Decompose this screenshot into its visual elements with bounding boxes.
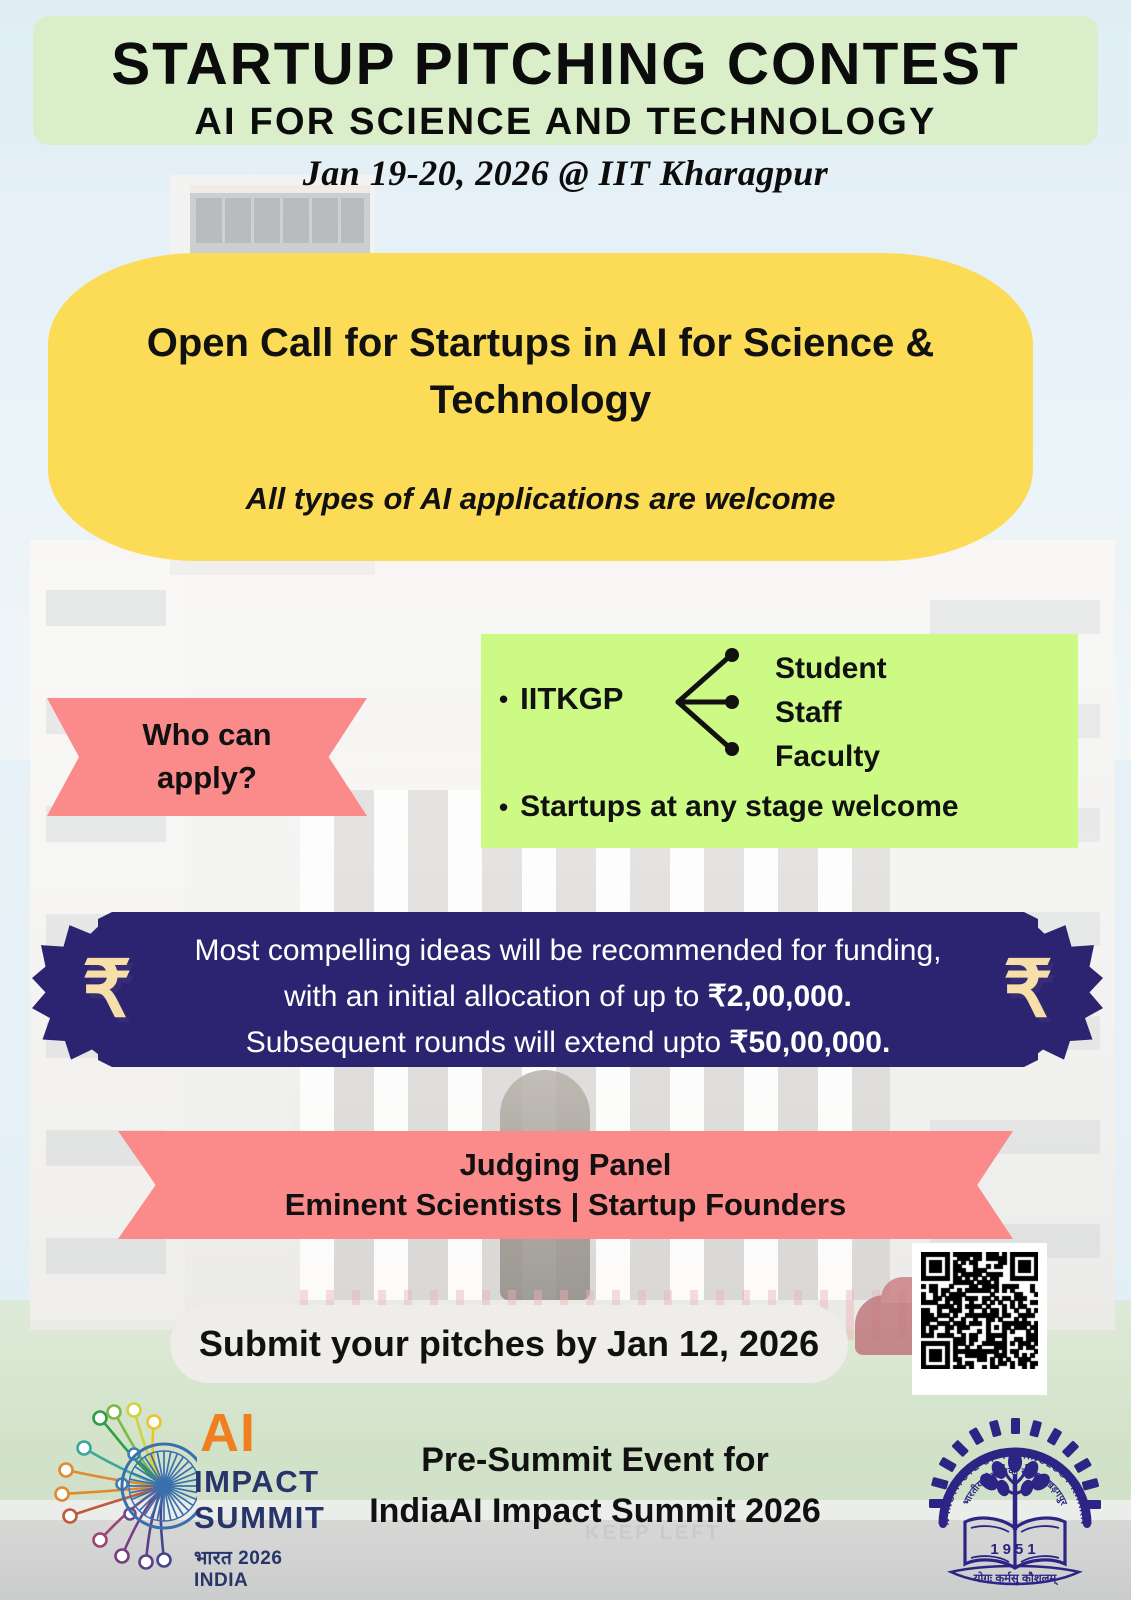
ais-logo-impact: IMPACT — [194, 1464, 320, 1500]
eligibility-box: • IITKGP Student Staff Faculty • Startup… — [481, 634, 1078, 848]
submission-deadline-text: Submit your pitches by Jan 12, 2026 — [199, 1323, 819, 1365]
page-subtitle: AI FOR SCIENCE AND TECHNOLOGY — [33, 101, 1098, 144]
who-can-apply-line2: apply? — [157, 757, 257, 800]
ais-logo-bharat: भारत 2026 INDIA — [194, 1544, 322, 1592]
funding-followon-amount: ₹50,00,000. — [729, 1026, 890, 1059]
funding-line-3: Subsequent rounds will extend upto ₹50,0… — [98, 1020, 1038, 1066]
bullet-icon: • — [499, 686, 508, 712]
open-call-card: Open Call for Startups in AI for Science… — [48, 253, 1033, 561]
header-band: STARTUP PITCHING CONTEST AI FOR SCIENCE … — [33, 16, 1098, 145]
page-title: STARTUP PITCHING CONTEST — [38, 30, 1092, 98]
funding-text: Most compelling ideas will be recommende… — [98, 928, 1038, 1066]
presummit-line-1: Pre-Summit Event for — [330, 1435, 860, 1486]
judging-panel-ribbon: Judging Panel Eminent Scientists | Start… — [118, 1131, 1013, 1239]
funding-initial-amount: ₹2,00,000. — [708, 980, 852, 1013]
iitkgp-seal-icon: INDIAN INSTITUTE OF TECHNOLOGY KHARAGPUR… — [925, 1412, 1105, 1592]
ais-logo-ai: AI — [200, 1402, 256, 1464]
funding-line-1: Most compelling ideas will be recommende… — [98, 928, 1038, 974]
judging-panel-members: Eminent Scientists | Startup Founders — [285, 1187, 847, 1223]
ais-logo-summit: SUMMIT — [194, 1500, 325, 1536]
qr-code-canvas[interactable] — [921, 1252, 1038, 1369]
presummit-text: Pre-Summit Event for IndiaAI Impact Summ… — [330, 1435, 860, 1537]
qr-code[interactable] — [912, 1243, 1047, 1395]
funding-line-3-prefix: Subsequent rounds will extend upto — [246, 1026, 730, 1059]
submission-deadline-pill: Submit your pitches by Jan 12, 2026 — [170, 1305, 848, 1383]
eligibility-startups: • Startups at any stage welcome — [499, 790, 1069, 824]
ai-impact-summit-logo: AI IMPACT SUMMIT भारत 2026 INDIA — [22, 1392, 322, 1582]
svg-text:योगः कर्मसु कौशलम्: योगः कर्मसु कौशलम् — [973, 1571, 1059, 1586]
funding-banner: ₹ ₹ Most compelling ideas will be recomm… — [30, 912, 1105, 1067]
iit-kharagpur-crest: INDIAN INSTITUTE OF TECHNOLOGY KHARAGPUR… — [925, 1412, 1105, 1592]
eligibility-branch-faculty: Faculty — [737, 735, 1077, 779]
open-call-heading: Open Call for Startups in AI for Science… — [118, 315, 963, 429]
who-can-apply-line1: Who can — [142, 714, 271, 757]
eligibility-root: • IITKGP — [499, 681, 699, 717]
who-can-apply-ribbon: Who can apply? — [47, 698, 367, 816]
branch-connector-icon — [674, 642, 744, 762]
bullet-icon: • — [499, 794, 508, 820]
funding-line-2: with an initial allocation of up to ₹2,0… — [98, 974, 1038, 1020]
ashoka-chakra-network-icon — [22, 1392, 197, 1580]
presummit-line-2: IndiaAI Impact Summit 2026 — [330, 1486, 860, 1537]
eligibility-branch-student: Student — [737, 647, 1077, 691]
funding-line-2-prefix: with an initial allocation of up to — [284, 980, 708, 1013]
judging-panel-title: Judging Panel — [460, 1147, 672, 1183]
svg-text:1951: 1951 — [990, 1541, 1039, 1558]
poster-root: KEEP LEFT STARTUP PITCHING CONTEST AI FO… — [0, 0, 1131, 1600]
eligibility-branch-list: Student Staff Faculty — [737, 641, 1077, 779]
event-date-venue: Jan 19-20, 2026 @ IIT Kharagpur — [0, 152, 1131, 194]
eligibility-branch-staff: Staff — [737, 691, 1077, 735]
eligibility-startups-label: Startups at any stage welcome — [520, 790, 959, 824]
open-call-note: All types of AI applications are welcome — [108, 481, 973, 517]
eligibility-root-label: IITKGP — [520, 681, 623, 717]
